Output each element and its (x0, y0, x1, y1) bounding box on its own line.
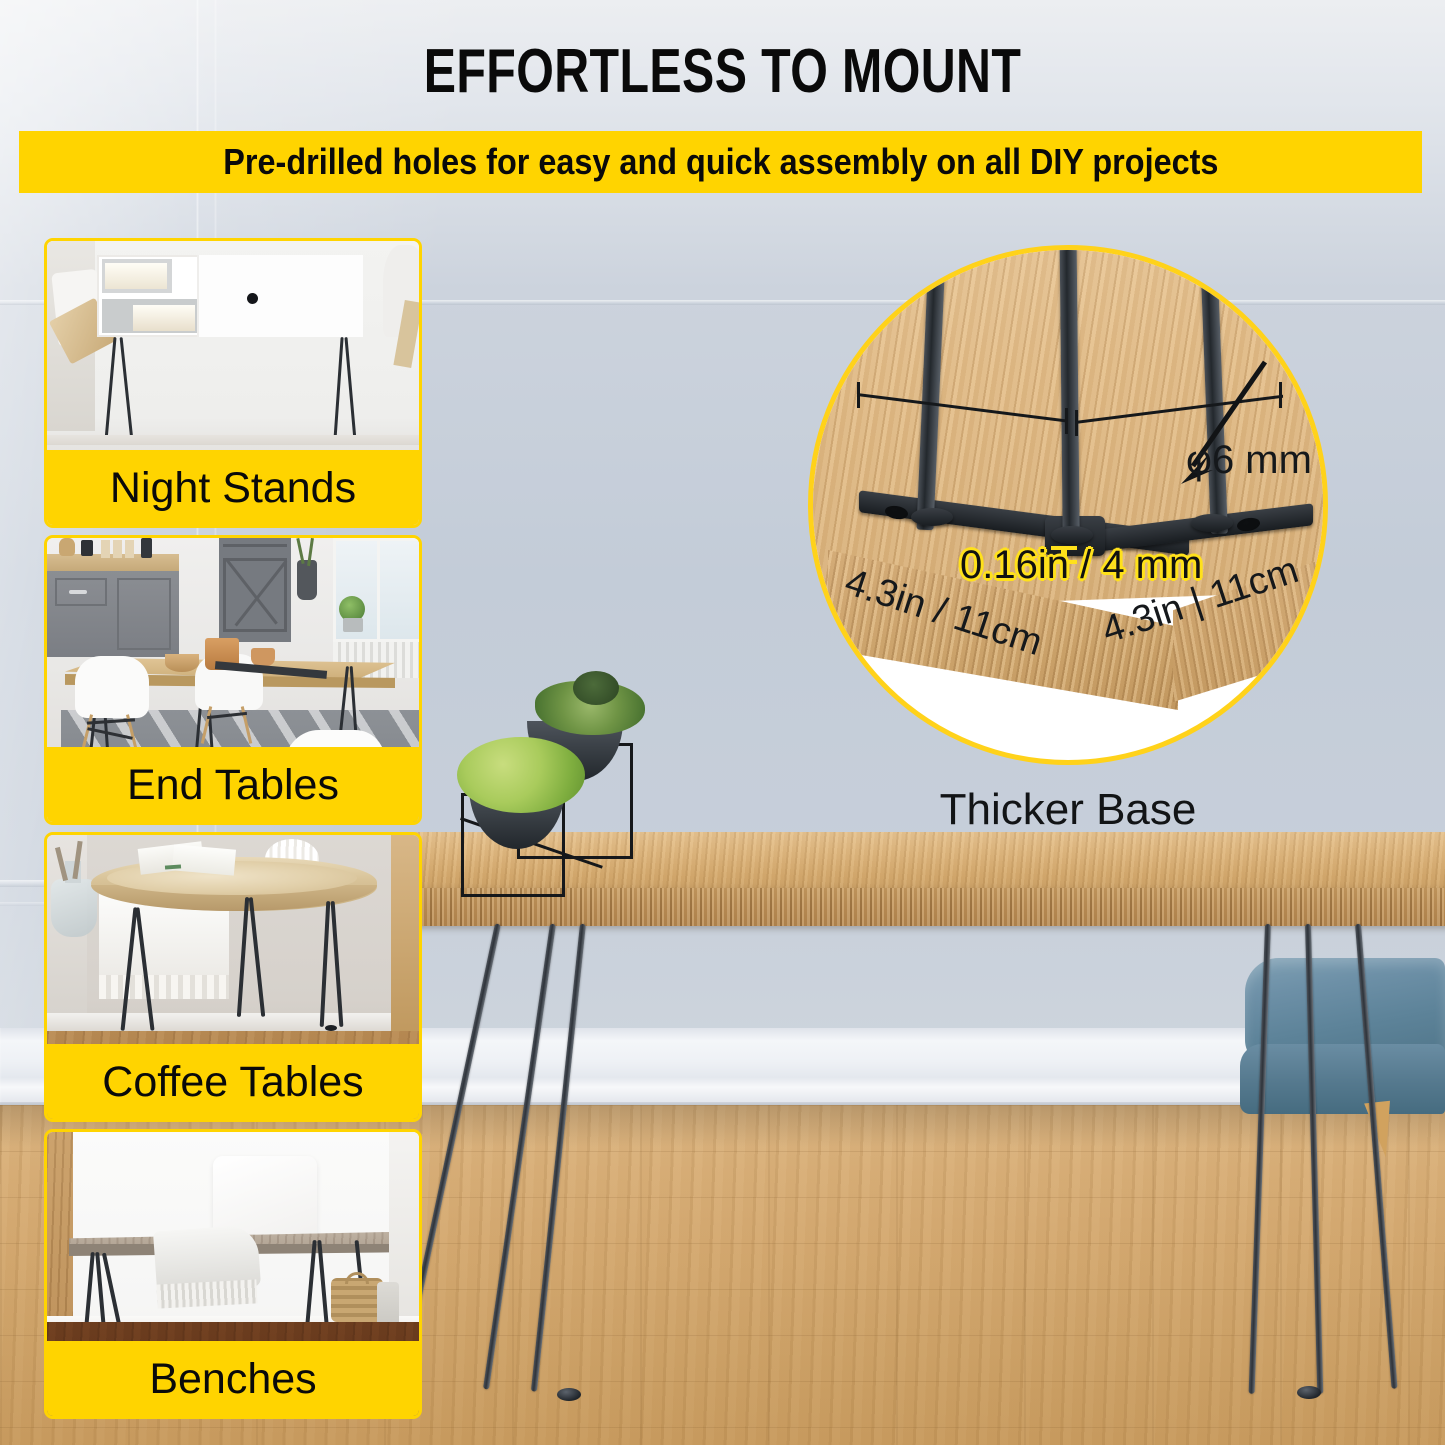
hole-diameter-label: φ6 mm (1186, 438, 1312, 483)
card-night-stands[interactable]: Night Stands (44, 238, 422, 528)
card-coffee-tables[interactable]: Coffee Tables (44, 832, 422, 1122)
card-benches[interactable]: Benches (44, 1129, 422, 1419)
weld-joint (911, 508, 953, 526)
thicker-base-caption: Thicker Base (808, 785, 1328, 835)
plate-thickness-label: 0.16in / 4 mm (960, 543, 1202, 588)
weld-joint (1051, 526, 1093, 544)
card-label-coffee-tables: Coffee Tables (46, 1044, 420, 1120)
moss-plant (457, 737, 585, 813)
subhead-text: Pre-drilled holes for easy and quick ass… (223, 141, 1218, 183)
card-end-tables[interactable]: End Tables (44, 535, 422, 825)
page-title: EFFORTLESS TO MOUNT (159, 36, 1286, 107)
succulent-plant (573, 671, 619, 705)
hairpin-table (400, 832, 1445, 1392)
card-label-end-tables: End Tables (46, 747, 420, 823)
card-label-night-stands: Night Stands (46, 450, 420, 526)
weld-joint (1191, 514, 1233, 532)
detail-zoom-circle (808, 245, 1328, 765)
planter-decor (455, 665, 665, 900)
hairpin-rod-center (1059, 245, 1079, 540)
subhead-banner: Pre-drilled holes for easy and quick ass… (19, 131, 1422, 193)
card-label-benches: Benches (46, 1341, 420, 1417)
use-case-card-list: Night Stands (44, 238, 422, 1426)
